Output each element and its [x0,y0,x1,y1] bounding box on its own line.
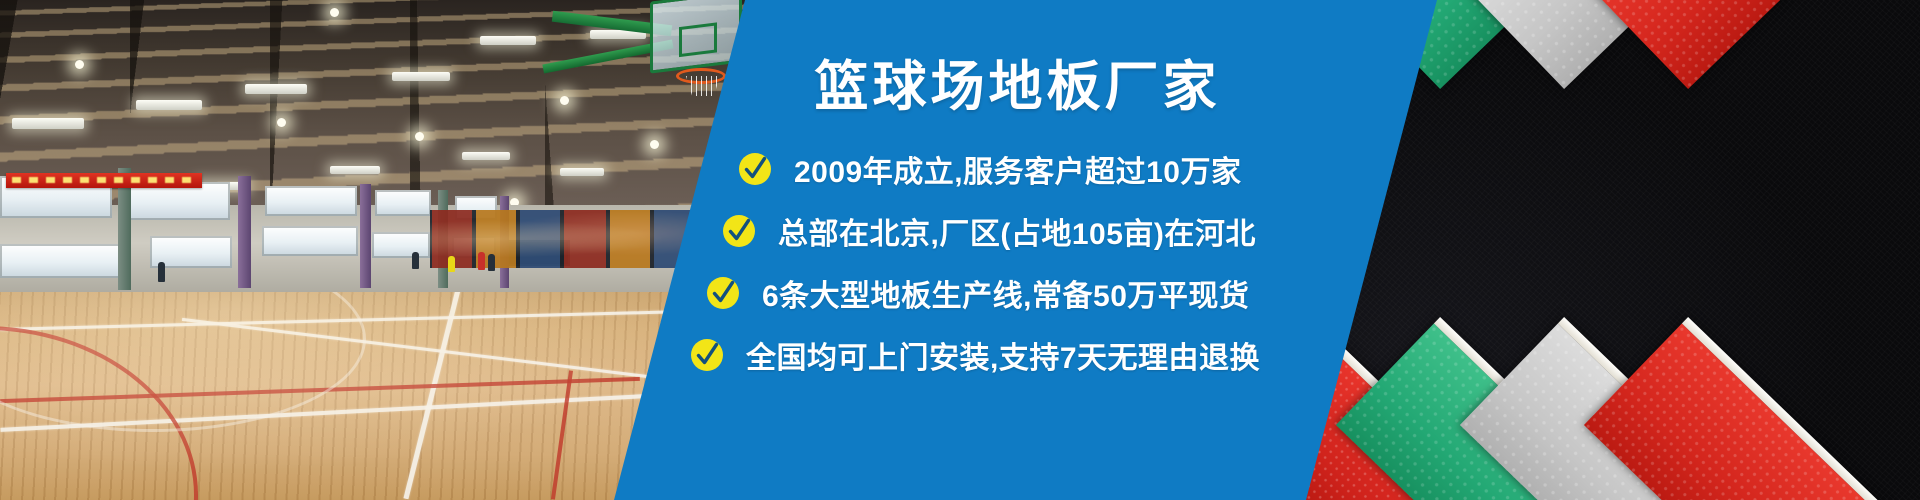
flooring-sample-red-2 [1584,0,1920,89]
ceiling-light [136,100,202,110]
ceiling-light [12,118,84,129]
list-item: 6条大型地板生产线,常备50万平现货 [706,262,1439,324]
ceiling-lamp [277,118,286,127]
gym-person [448,256,455,272]
ceiling-light [560,168,604,176]
check-circle-icon [706,276,740,310]
list-item-label: 6条大型地板生产线,常备50万平现货 [762,271,1249,315]
ceiling-lamp [415,132,424,141]
list-item: 2009年成立,服务客户超过10万家 [738,138,1439,200]
list-item-label: 2009年成立,服务客户超过10万家 [794,147,1241,191]
flooring-sample-red-2 [1584,317,1920,500]
promo-content: 篮球场地板厂家 2009年成立,服务客户超过10万家 [614,0,1439,500]
court-arc-red [0,326,198,500]
gym-person [412,252,419,269]
court-arc-white [0,292,366,432]
list-item-label: 全国均可上门安装,支持7天无理由退换 [746,333,1260,377]
feature-list: 2009年成立,服务客户超过10万家 总部在北京,厂区(占地105亩)在河北 [614,138,1439,386]
ceiling-light [330,166,380,174]
court-line-red [551,370,573,499]
gym-window [375,190,431,216]
gym-person [478,252,485,270]
promo-banner: 篮球场地板厂家 2009年成立,服务客户超过10万家 [0,0,1920,500]
ceiling-light [392,72,450,81]
gym-column [238,176,251,288]
gym-window [265,186,357,216]
gym-window [372,232,430,258]
ceiling-light [480,36,536,45]
page-title: 篮球场地板厂家 [614,60,1439,114]
gym-window [262,226,358,256]
check-circle-icon [722,214,756,248]
list-item: 总部在北京,厂区(占地105亩)在河北 [722,200,1439,262]
gym-person [158,262,165,282]
gym-window [0,244,128,278]
ceiling-lamp [560,96,569,105]
ceiling-lamp [330,8,339,17]
list-item: 全国均可上门安装,支持7天无理由退换 [690,324,1439,386]
gym-person [488,254,495,271]
court-line [403,292,461,499]
ceiling-light [245,84,307,94]
ceiling-light [462,152,510,160]
court-line-red [0,377,640,403]
gym-column [360,184,371,288]
list-item-label: 总部在北京,厂区(占地105亩)在河北 [778,209,1256,253]
ceiling-lamp [75,60,84,69]
gym-red-banner [6,173,202,188]
check-circle-icon [690,338,724,372]
check-circle-icon [738,152,772,186]
